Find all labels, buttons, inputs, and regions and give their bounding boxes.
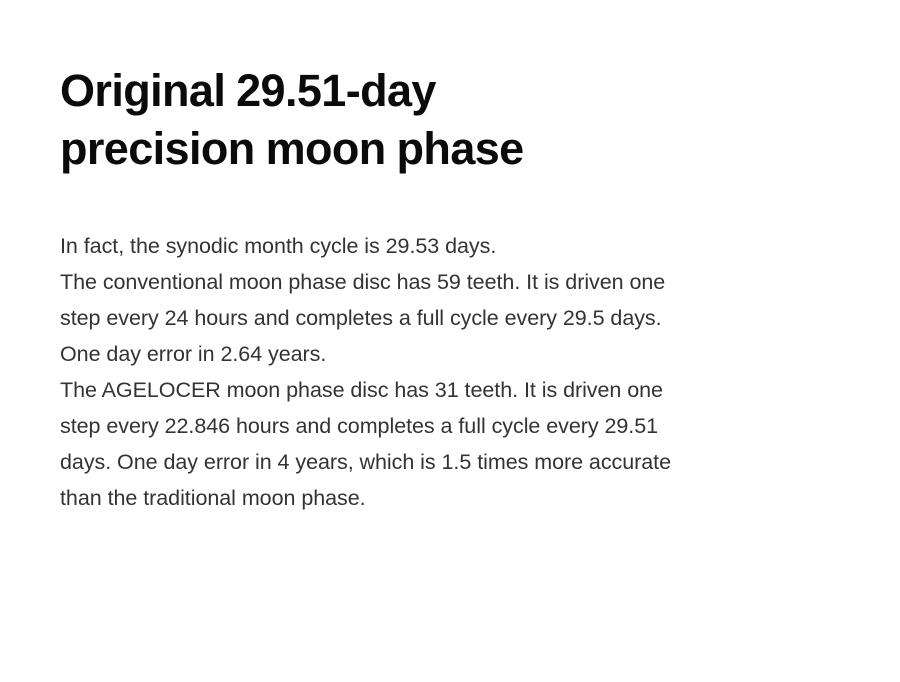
document-page: Original 29.51-day precision moon phase … [0,0,900,682]
content-container: Original 29.51-day precision moon phase … [60,62,820,516]
page-title: Original 29.51-day precision moon phase [60,62,620,178]
body-line-6: step every 22.846 hours and completes a … [60,408,820,444]
body-paragraph: In fact, the synodic month cycle is 29.5… [60,228,820,516]
body-line-2: The conventional moon phase disc has 59 … [60,264,820,300]
body-line-7: days. One day error in 4 years, which is… [60,444,820,480]
page-title-line-1: Original 29.51-day [60,62,620,120]
body-line-5: The AGELOCER moon phase disc has 31 teet… [60,372,820,408]
body-line-8: than the traditional moon phase. [60,480,820,516]
body-line-4: One day error in 2.64 years. [60,336,820,372]
body-line-3: step every 24 hours and completes a full… [60,300,820,336]
body-line-1: In fact, the synodic month cycle is 29.5… [60,228,820,264]
page-title-line-2: precision moon phase [60,120,620,178]
